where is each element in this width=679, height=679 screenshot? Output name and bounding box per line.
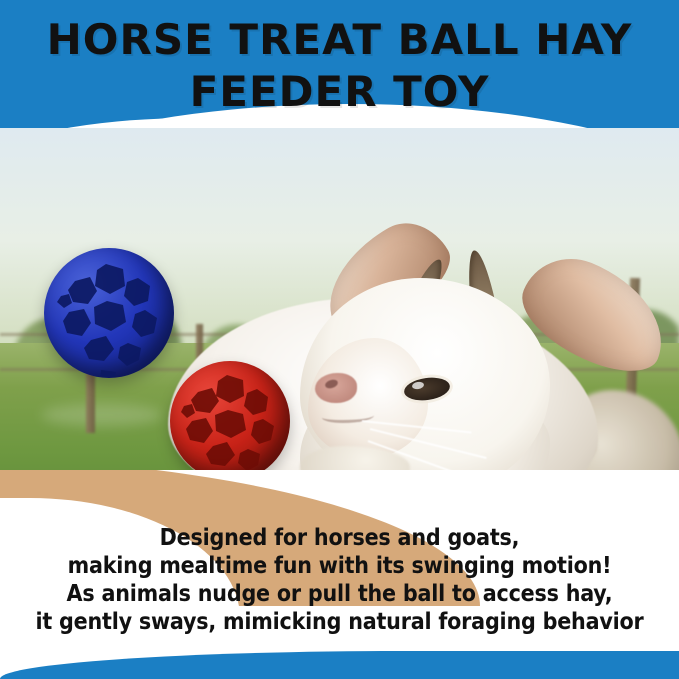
page-title-line-1: HORSE TREAT BALL HAY	[0, 14, 679, 66]
product-infographic: HORSE TREAT BALL HAY FEEDER TOY	[0, 0, 679, 679]
blue-treat-ball	[44, 248, 174, 378]
footer-blue-strip	[0, 651, 679, 679]
caption-line-1: Designed for horses and goats,	[0, 524, 679, 552]
caption-line-4: it gently sways, mimicking natural forag…	[0, 608, 679, 636]
red-treat-ball	[170, 361, 290, 481]
page-title: HORSE TREAT BALL HAY FEEDER TOY	[0, 14, 679, 118]
goat-nose	[315, 373, 357, 403]
product-photo	[0, 128, 679, 523]
caption-line-3: As animals nudge or pull the ball to acc…	[0, 580, 679, 608]
caption-section: Designed for horses and goats, making me…	[0, 470, 679, 679]
caption-text: Designed for horses and goats, making me…	[0, 524, 679, 636]
caption-line-2: making mealtime fun with its swinging mo…	[0, 552, 679, 580]
page-title-line-2: FEEDER TOY	[0, 66, 679, 118]
